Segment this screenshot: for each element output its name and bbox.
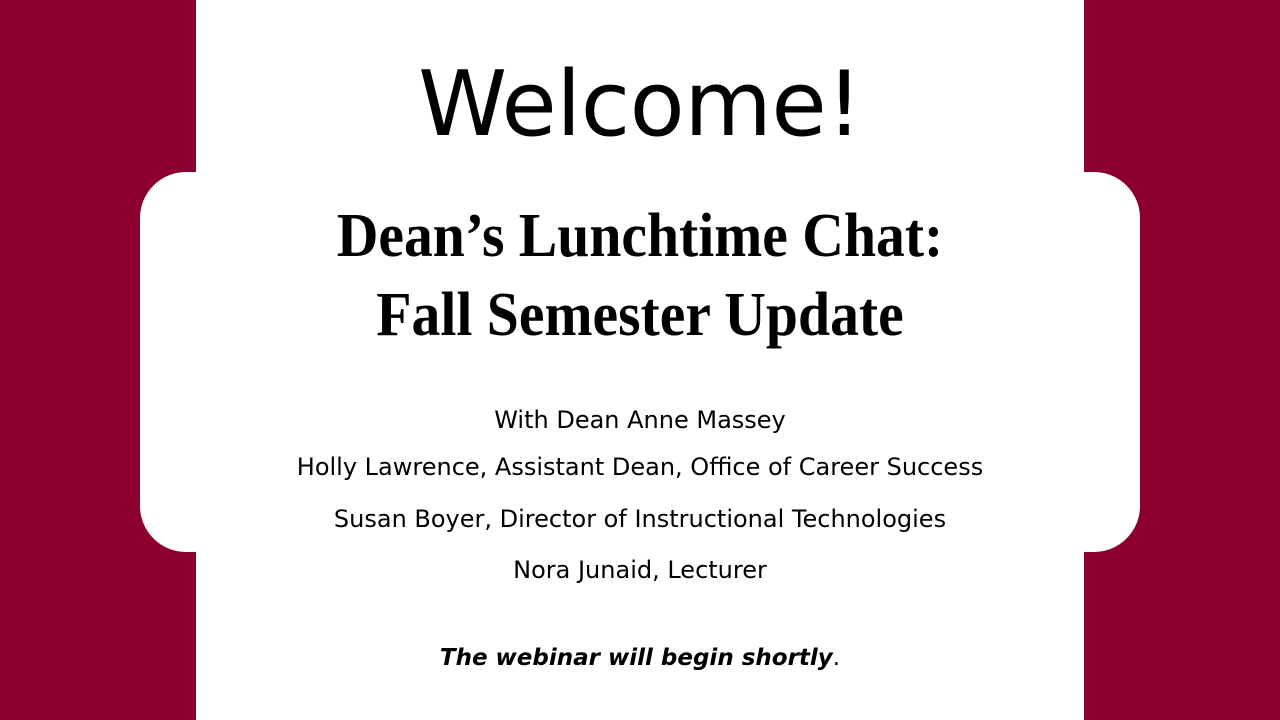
presenter-line-1: With Dean Anne Massey bbox=[0, 408, 1280, 432]
slide-subtitle: Dean’s Lunchtime Chat: Fall Semester Upd… bbox=[45, 197, 1235, 354]
presenter-line-3: Susan Boyer, Director of Instructional T… bbox=[0, 507, 1280, 531]
closing-note: The webinar will begin shortly. bbox=[0, 645, 1280, 671]
presenter-list: With Dean Anne Massey Holly Lawrence, As… bbox=[0, 408, 1280, 582]
closing-note-punctuation: . bbox=[833, 645, 840, 671]
subtitle-line-1: Dean’s Lunchtime Chat: bbox=[45, 197, 1235, 276]
subtitle-line-2: Fall Semester Update bbox=[45, 276, 1235, 355]
slide-content: Welcome! Dean’s Lunchtime Chat: Fall Sem… bbox=[0, 0, 1280, 720]
presenter-line-4: Nora Junaid, Lecturer bbox=[0, 558, 1280, 582]
presenter-line-2: Holly Lawrence, Assistant Dean, Office o… bbox=[0, 455, 1280, 479]
closing-note-emphasis: The webinar will begin shortly bbox=[440, 645, 833, 671]
slide-title: Welcome! bbox=[0, 58, 1280, 152]
presentation-slide: Welcome! Dean’s Lunchtime Chat: Fall Sem… bbox=[0, 0, 1280, 720]
